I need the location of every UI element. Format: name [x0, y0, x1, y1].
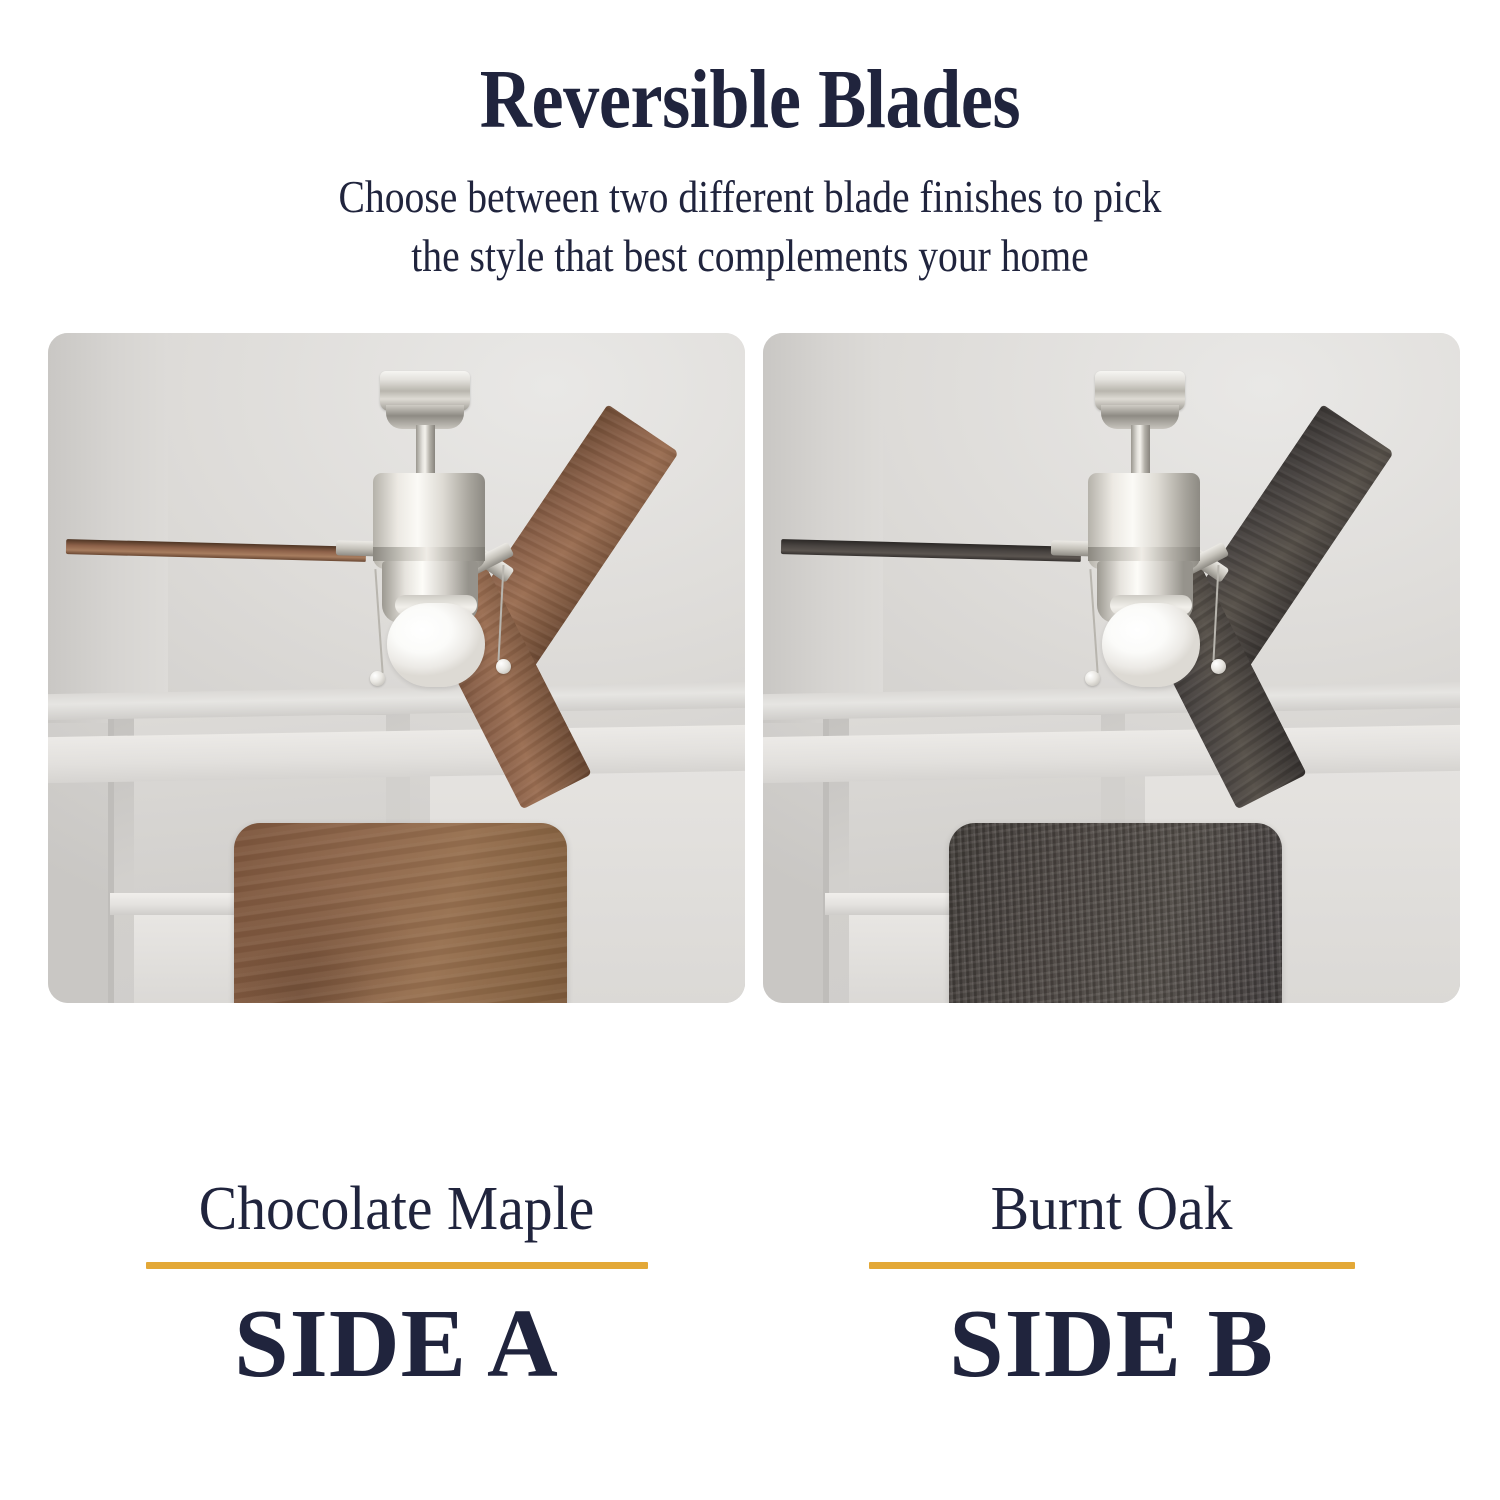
- page-subtitle: Choose between two different blade finis…: [90, 168, 1410, 285]
- gold-divider-side-a: [146, 1262, 648, 1269]
- fan-blade-left-edge-on: [781, 539, 1081, 562]
- light-globe: [387, 603, 485, 687]
- pull-chain-knob-right: [496, 659, 511, 674]
- pull-chain-knob-left: [370, 671, 385, 686]
- side-label-b: SIDE B: [763, 1295, 1460, 1393]
- subtitle-line-1: Choose between two different blade finis…: [339, 172, 1162, 222]
- subtitle-line-2: the style that best complements your hom…: [90, 227, 1410, 286]
- fan-motor-band: [373, 547, 485, 561]
- caption-side-a: Chocolate Maple SIDE A: [48, 1178, 745, 1393]
- panel-side-a: Chocolate Maple SIDE A: [48, 333, 745, 1003]
- fan-motor-band: [1088, 547, 1200, 561]
- side-label-a: SIDE A: [48, 1295, 745, 1393]
- page-title: Reversible Blades: [105, 58, 1395, 142]
- finish-swatch-side-a: [234, 823, 567, 1003]
- panel-side-b: Burnt Oak SIDE B: [763, 333, 1460, 1003]
- pull-chain-knob-right: [1211, 659, 1226, 674]
- finish-swatch-side-b: [949, 823, 1282, 1003]
- gold-divider-side-b: [869, 1262, 1355, 1269]
- fan-photo-side-b: [763, 333, 1460, 1003]
- pull-chain-knob-left: [1085, 671, 1100, 686]
- light-globe: [1102, 603, 1200, 687]
- comparison-panels: Chocolate Maple SIDE A: [0, 333, 1500, 1500]
- header: Reversible Blades Choose between two dif…: [0, 0, 1500, 285]
- finish-name-side-b: Burnt Oak: [787, 1178, 1435, 1240]
- finish-name-side-a: Chocolate Maple: [72, 1178, 720, 1240]
- fan-blade-left-edge-on: [66, 539, 366, 562]
- caption-side-b: Burnt Oak SIDE B: [763, 1178, 1460, 1393]
- fan-photo-side-a: [48, 333, 745, 1003]
